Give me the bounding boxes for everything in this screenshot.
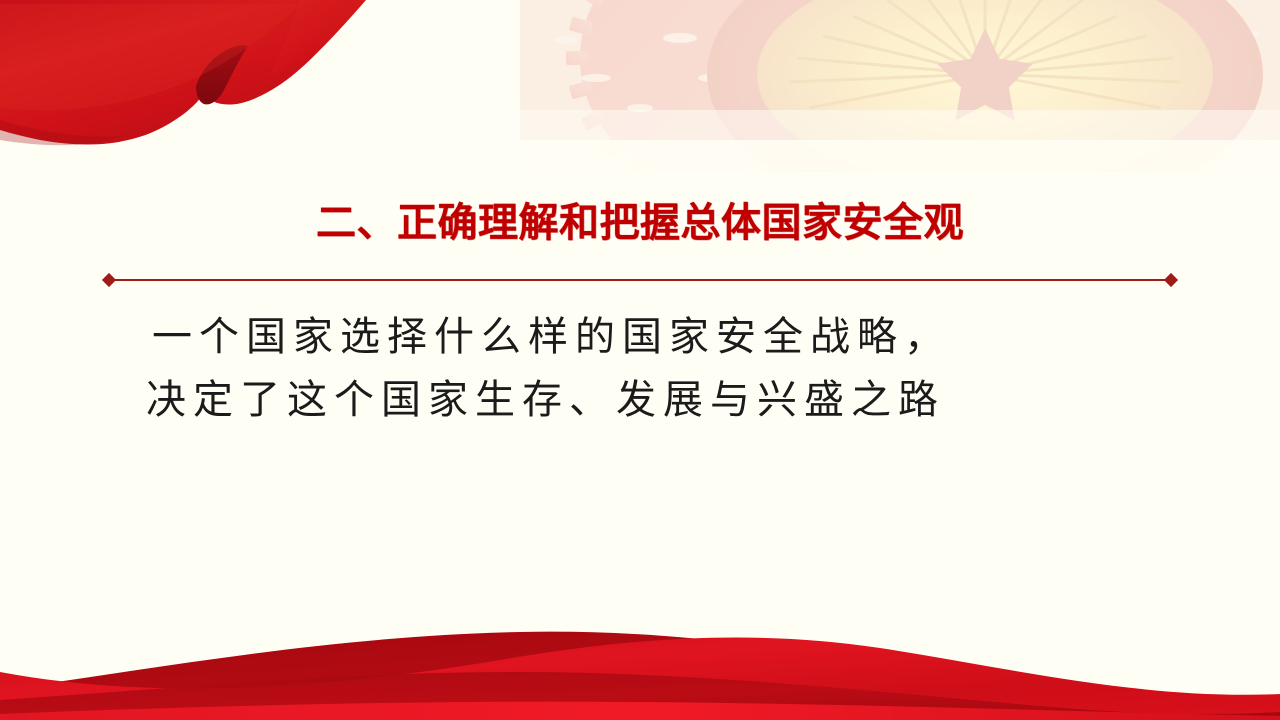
title-block: 二、正确理解和把握总体国家安全观 xyxy=(0,196,1280,250)
presentation-slide: 二、正确理解和把握总体国家安全观 一个国家选择什么样的国家安全战略， 决定了这个… xyxy=(0,0,1280,720)
top-right-emblem-watermark xyxy=(520,0,1280,222)
title-divider xyxy=(104,272,1176,288)
body-line-1: 一个国家选择什么样的国家安全战略， xyxy=(100,306,1180,369)
gear-cog-watermark xyxy=(566,0,834,192)
five-pointed-star xyxy=(937,28,1033,120)
medallion-ring xyxy=(707,0,1263,222)
body-line-2: 决定了这个国家生存、发展与兴盛之路 xyxy=(100,369,1180,432)
speckle-dots xyxy=(554,1,1259,112)
body-text-block: 一个国家选择什么样的国家安全战略， 决定了这个国家生存、发展与兴盛之路 xyxy=(100,306,1180,432)
red-wave-ribbon xyxy=(0,632,1280,720)
sunburst-rays xyxy=(789,0,1181,108)
page-title: 二、正确理解和把握总体国家安全观 xyxy=(316,196,964,250)
divider-right-diamond-icon xyxy=(1164,273,1178,287)
divider-rule xyxy=(110,279,1170,281)
red-flag-ribbon xyxy=(0,0,366,145)
